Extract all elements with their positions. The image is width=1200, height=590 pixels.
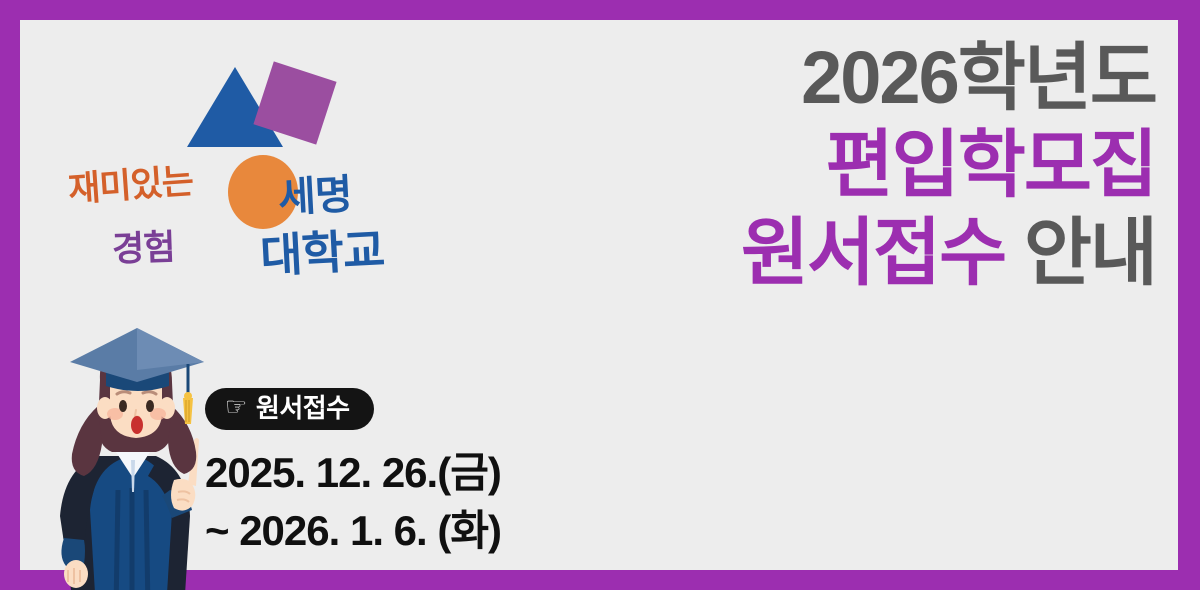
promo-poster: 재미있는 경험 세명 대학교 2026학년도 편입학모집 원서접수 안내 ☞ 원…: [0, 0, 1200, 590]
logo-slogan-line2: 경험: [111, 219, 175, 272]
headline-line-1: 2026학년도: [536, 34, 1156, 121]
logo-university-line2: 대학교: [258, 214, 385, 286]
gown-pleat-icon: [146, 490, 148, 590]
application-info-block: ☞ 원서접수 2025. 12. 26.(금) ~ 2026. 1. 6. (화…: [205, 388, 725, 560]
application-end-date: ~ 2026. 1. 6. (화): [205, 502, 725, 560]
semyung-university-logo: 재미있는 경험 세명 대학교: [50, 42, 470, 282]
logo-university-line1: 세명: [276, 160, 352, 224]
headline-line-3-highlight: 원서접수: [741, 211, 1005, 294]
right-eye-icon: [146, 400, 154, 412]
headline-block: 2026학년도 편입학모집 원서접수 안내: [536, 34, 1156, 296]
graduate-student-svg: [38, 320, 238, 590]
poster-content-area: 재미있는 경험 세명 대학교 2026학년도 편입학모집 원서접수 안내 ☞ 원…: [20, 20, 1178, 570]
logo-slogan-line1: 재미있는: [66, 153, 194, 213]
mouth-icon: [131, 416, 143, 434]
application-start-date: 2025. 12. 26.(금): [205, 444, 725, 502]
gown-pleat-icon: [116, 490, 118, 590]
tassel-fringe-icon: [183, 398, 193, 424]
left-eye-icon: [119, 400, 127, 412]
status-badge-label: 원서접수: [256, 395, 350, 421]
headline-line-3: 원서접수 안내: [536, 209, 1156, 296]
headline-line-3-rest: 안내: [1005, 211, 1156, 294]
graduate-student-illustration: [38, 320, 238, 590]
headline-line-2: 편입학모집: [536, 121, 1156, 208]
